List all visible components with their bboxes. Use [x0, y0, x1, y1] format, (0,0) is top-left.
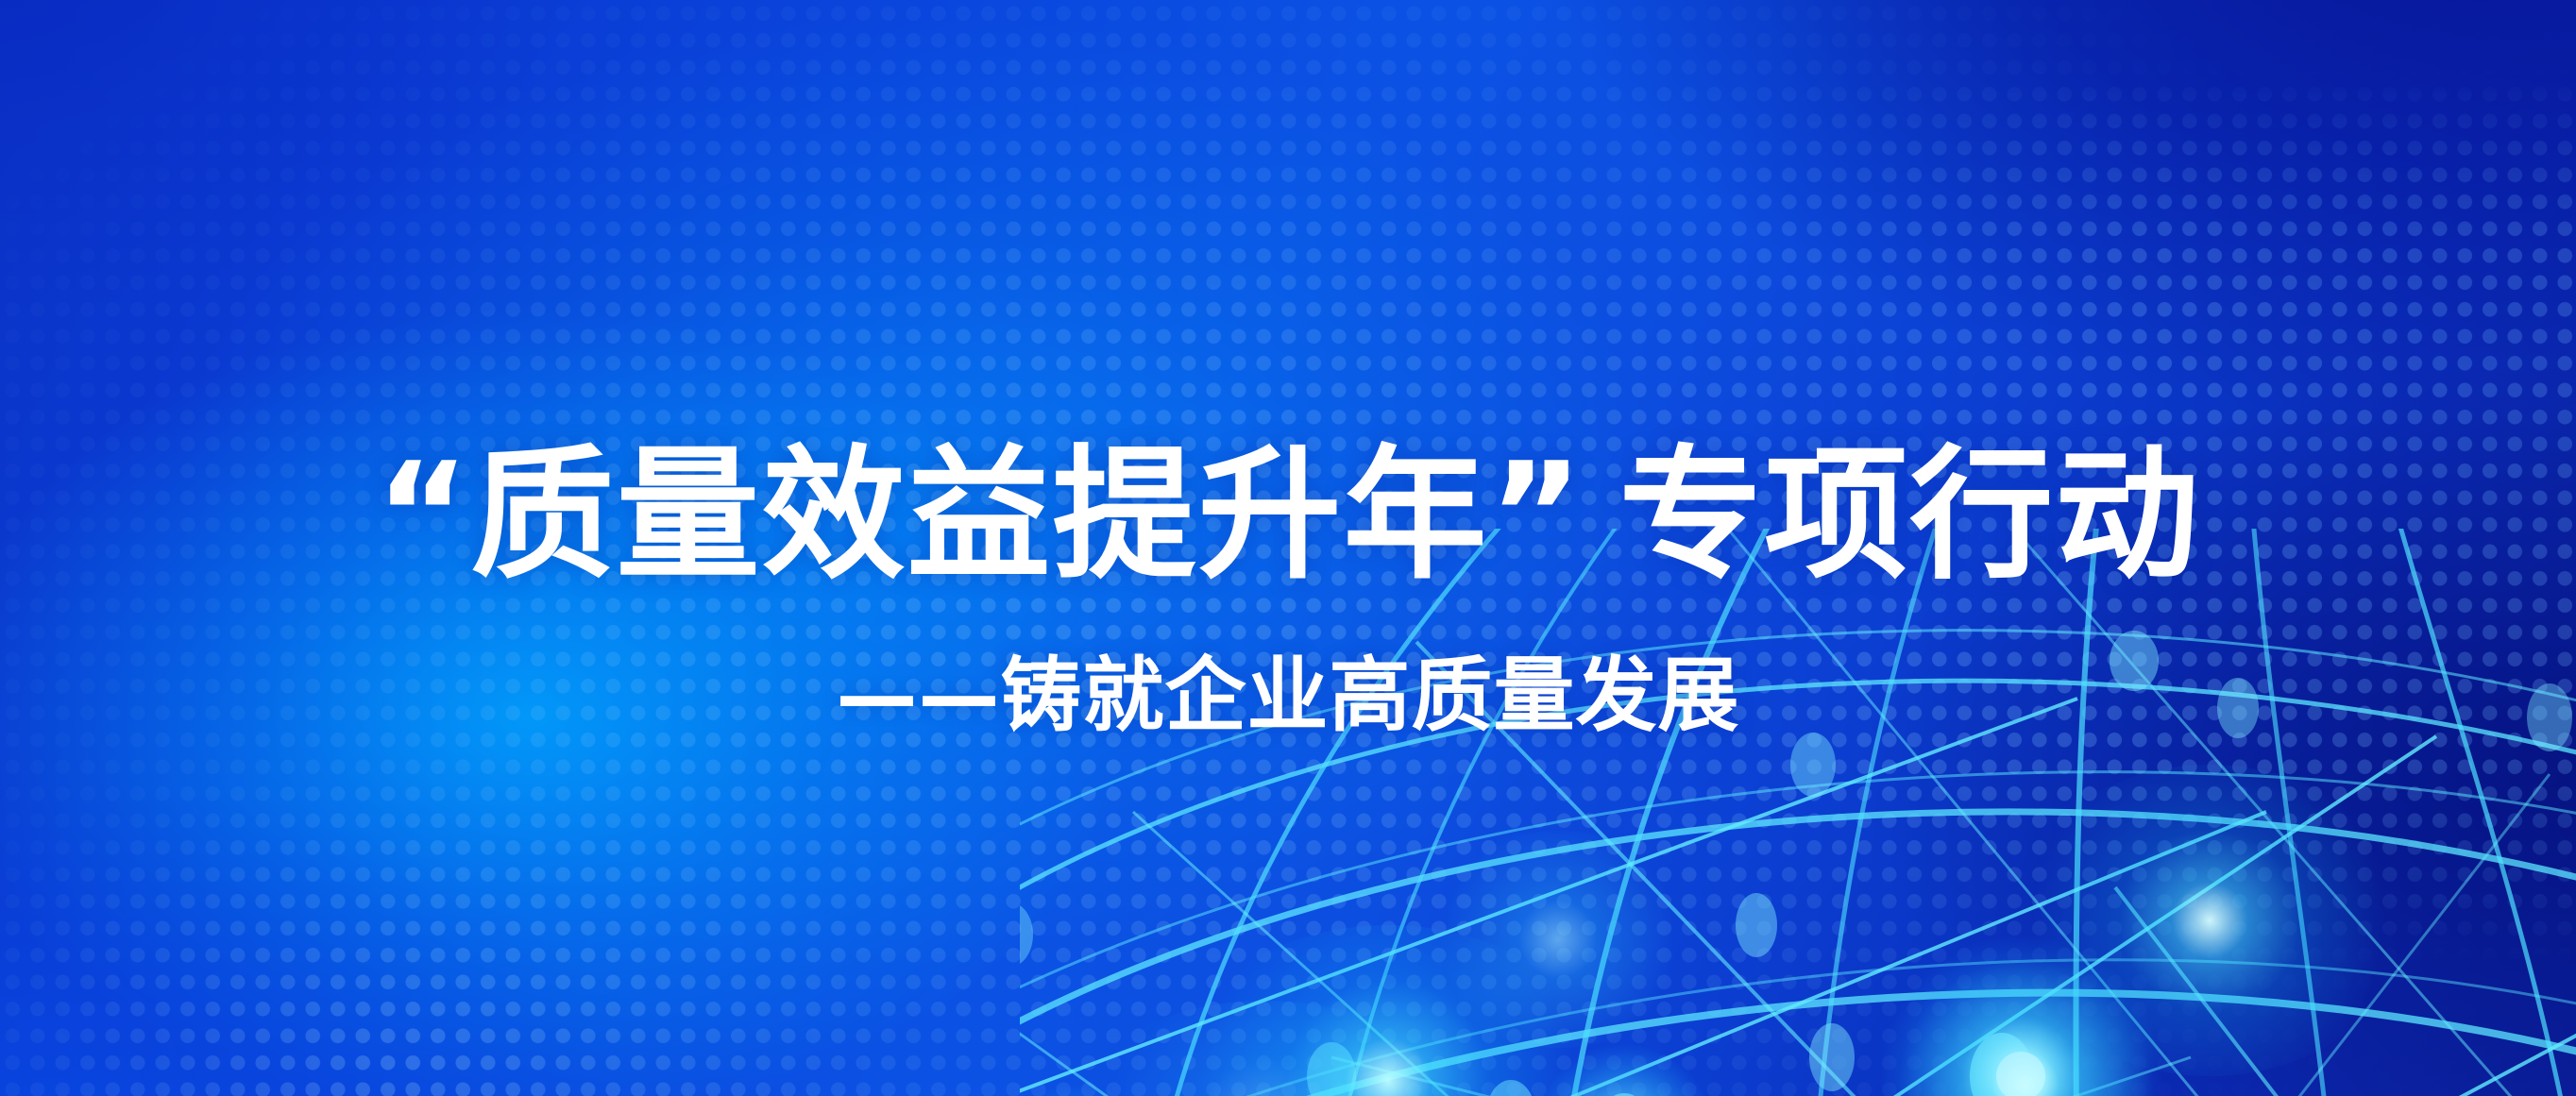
headline-close-quote: ”: [1489, 431, 1585, 599]
headline-trailing-text: 专项行动: [1618, 431, 2200, 599]
banner-headline: “质量效益提升年”专项行动: [0, 444, 2576, 587]
banner-text-layer: “质量效益提升年”专项行动 ——铸就企业高质量发展: [0, 0, 2576, 1096]
headline-quoted-text: 质量效益提升年: [471, 431, 1489, 599]
banner-subheadline: ——铸就企业高质量发展: [0, 655, 2576, 736]
banner-hero: “质量效益提升年”专项行动 ——铸就企业高质量发展: [0, 0, 2576, 1096]
headline-quoted-phrase: “: [376, 431, 471, 599]
subheadline-dash: ——: [837, 649, 1001, 743]
subheadline-text: 铸就企业高质量发展: [1001, 649, 1740, 743]
